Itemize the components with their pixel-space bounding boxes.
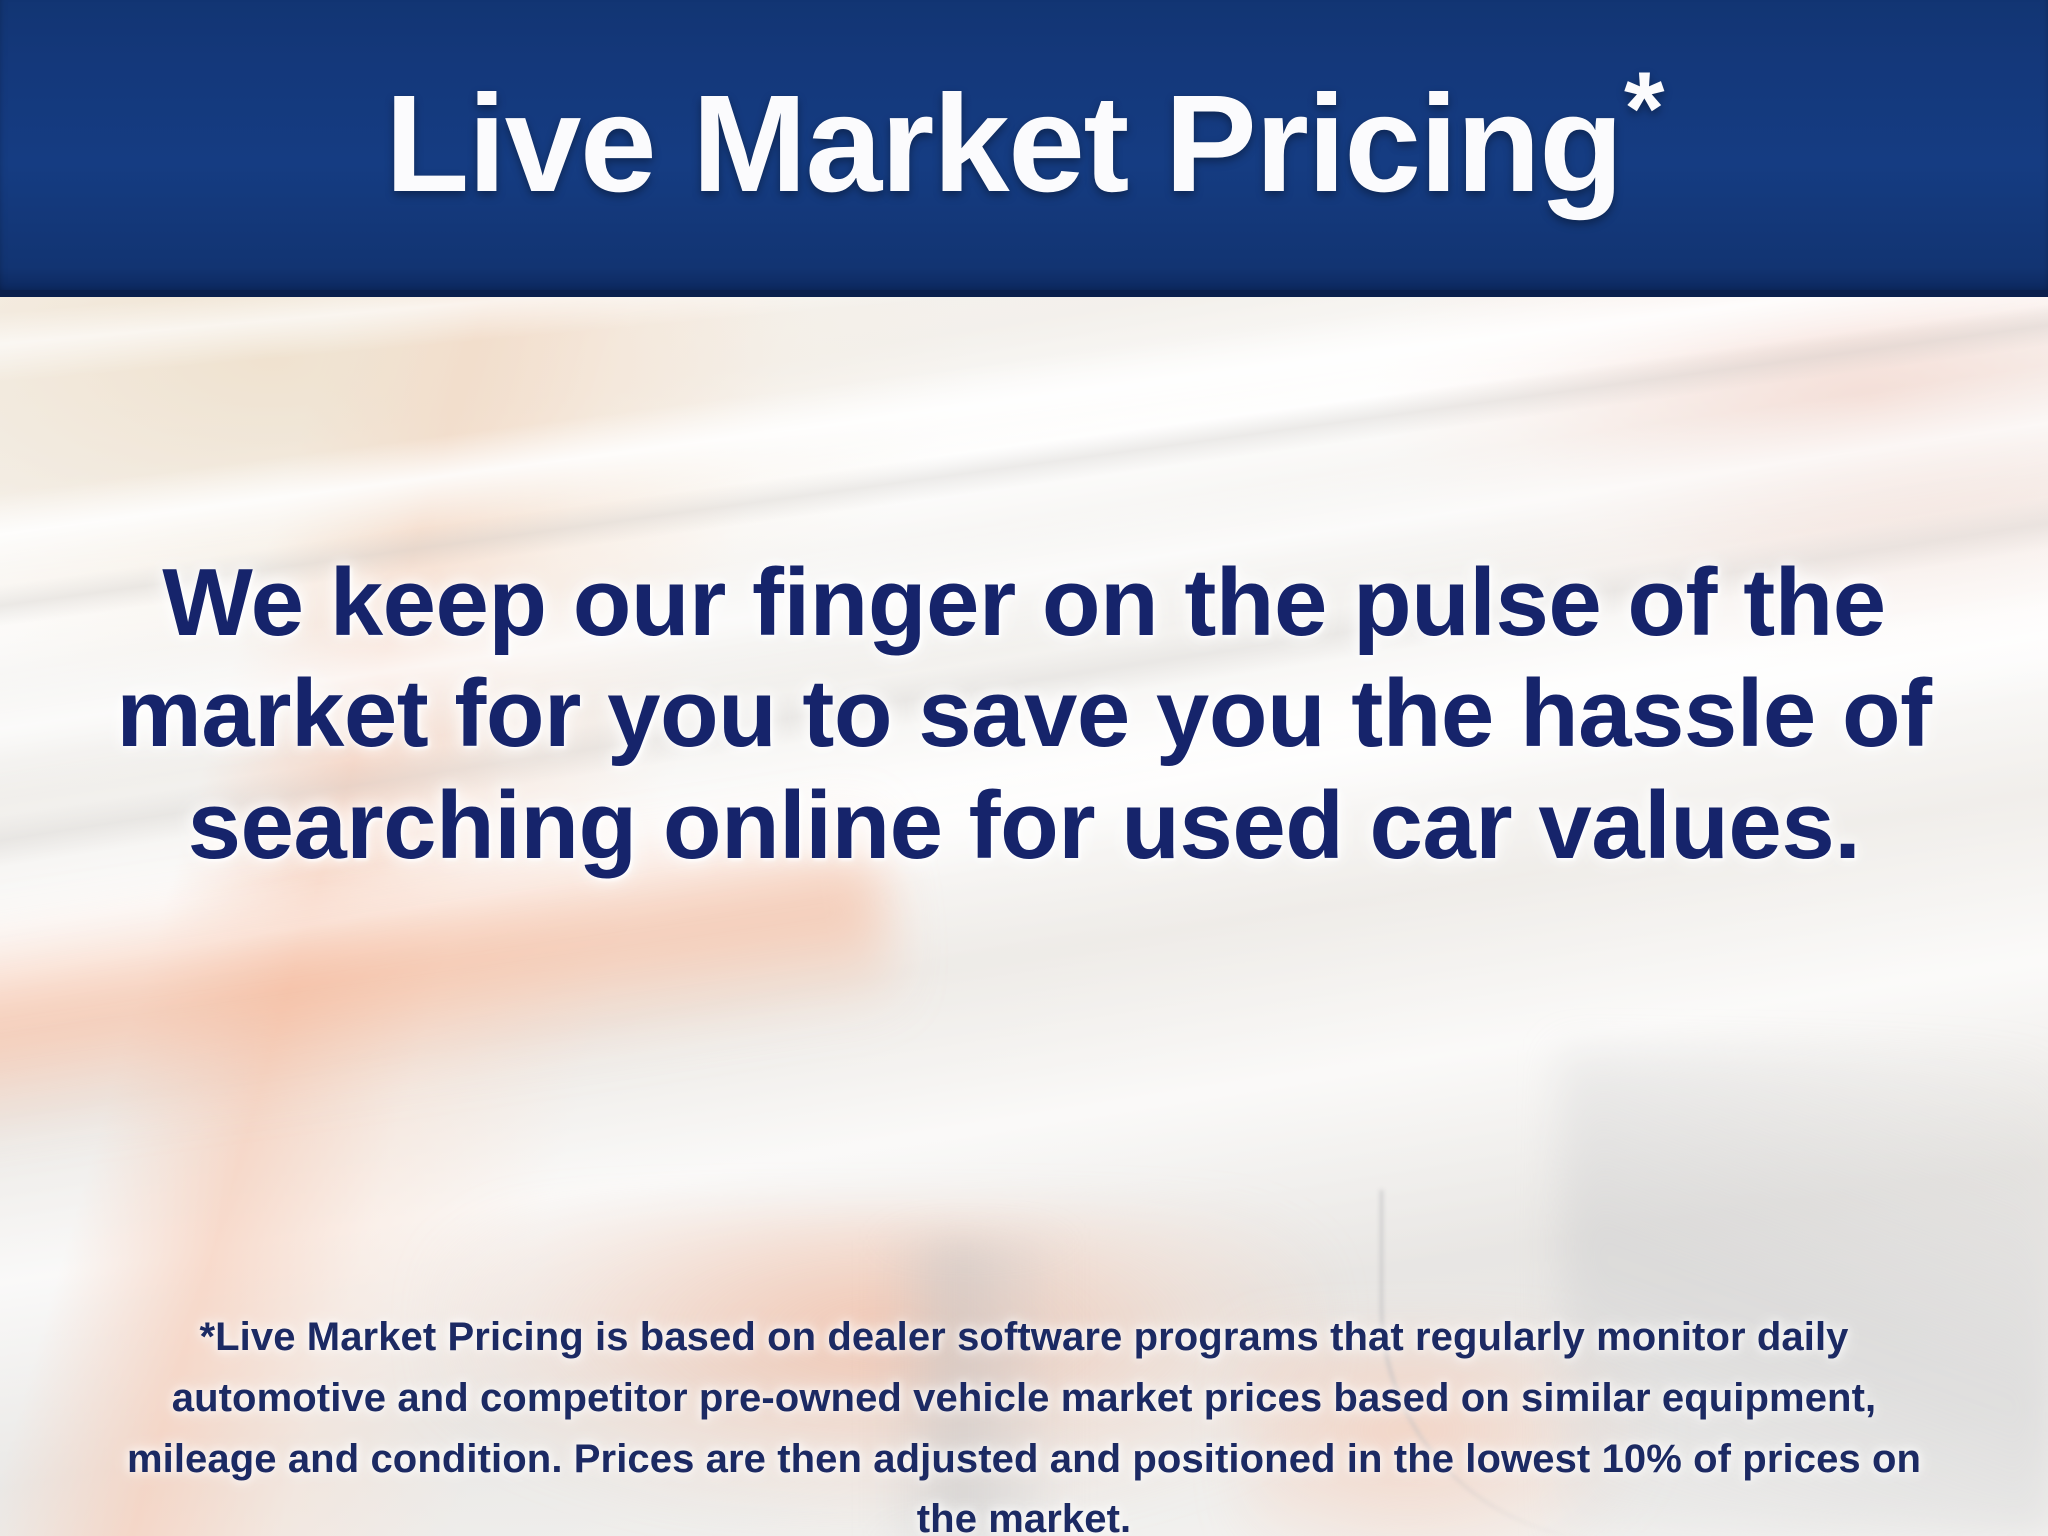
footnote-asterisk-icon: * xyxy=(1624,51,1663,167)
fine-print-disclaimer: *Live Market Pricing is based on dealer … xyxy=(110,1307,1938,1536)
header-band: Live Market Pricing* xyxy=(0,0,2048,297)
live-market-pricing-banner: Live Market Pricing* We keep our finger … xyxy=(0,0,2048,1536)
page-title-text: Live Market Pricing xyxy=(385,67,1622,221)
headline-text: We keep our finger on the pulse of the m… xyxy=(110,547,1938,881)
content-area: We keep our finger on the pulse of the m… xyxy=(0,297,2048,1536)
page-title: Live Market Pricing* xyxy=(385,75,1663,223)
